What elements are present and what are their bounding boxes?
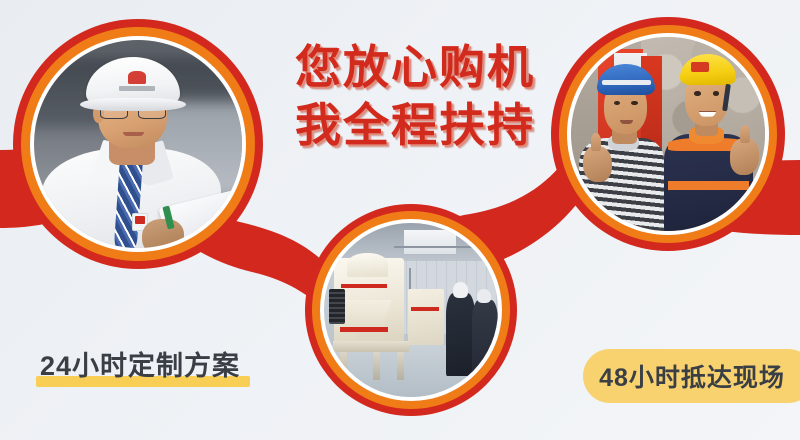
caption-right-pill: 48小时抵达现场 xyxy=(583,349,800,403)
photo-factory xyxy=(324,223,498,397)
photo-circle-workers xyxy=(551,17,785,251)
thumbs-up-icon xyxy=(730,138,759,175)
photo-workers xyxy=(571,37,765,231)
caption-left: 24小时定制方案 xyxy=(36,344,244,385)
photo-circle-engineer xyxy=(13,19,263,269)
caption-left-text: 24小时定制方案 xyxy=(36,344,244,385)
photo-circle-factory xyxy=(305,204,517,416)
headline-line-2: 我全程扶持 xyxy=(285,96,545,154)
thumbs-up-icon xyxy=(583,146,612,183)
caption-right-text: 48小时抵达现场 xyxy=(599,358,799,394)
headline-line-1: 您放心购机 xyxy=(285,38,545,96)
headline: 您放心购机 我全程扶持 xyxy=(285,38,545,154)
promo-banner: 您放心购机 我全程扶持 24小时定制方案 48小时抵达现场 xyxy=(0,0,800,440)
photo-engineer xyxy=(34,40,242,248)
